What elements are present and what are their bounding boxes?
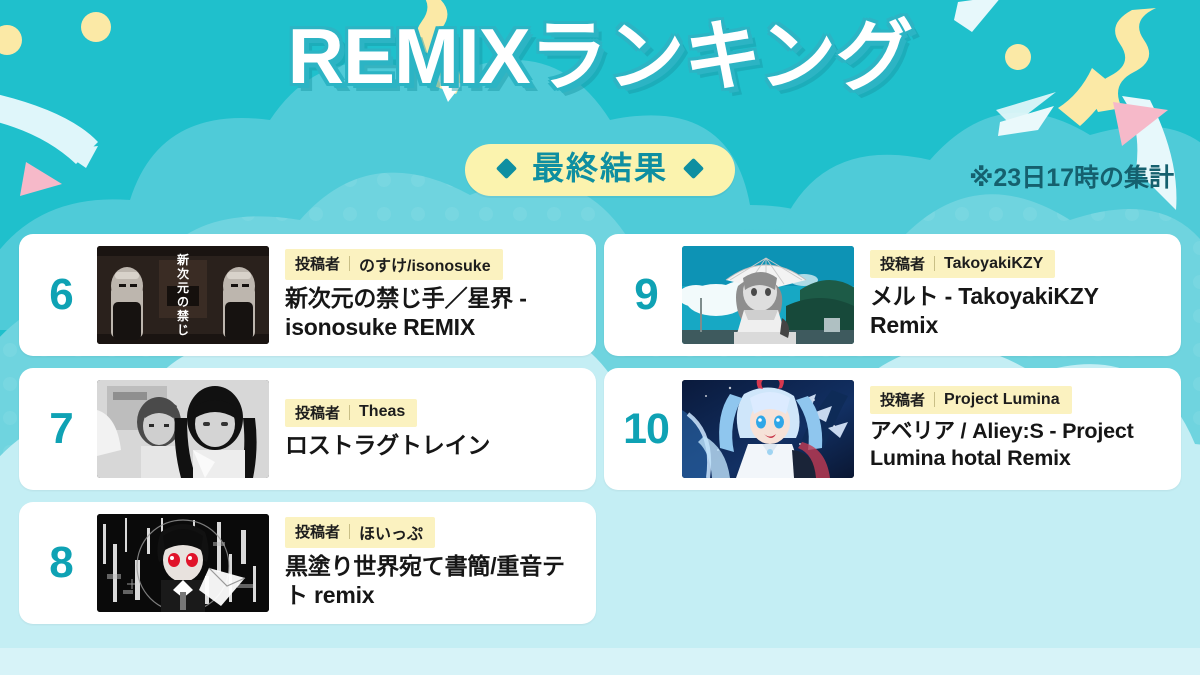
tag-divider xyxy=(349,405,350,420)
poster-label: 投稿者 xyxy=(295,521,340,542)
ranking-card-8[interactable]: 8 xyxy=(19,502,596,624)
rank-number: 6 xyxy=(25,273,97,317)
rank-number: 9 xyxy=(610,273,682,317)
diamond-icon-right xyxy=(683,158,704,179)
tally-note: ※23日17時の集計 xyxy=(969,158,1174,194)
poster-label: 投稿者 xyxy=(880,389,925,410)
poster-tag: 投稿者 TakoyakiKZY xyxy=(870,250,1055,278)
poster-name: Project Lumina xyxy=(944,391,1060,409)
thumbnail-rank-6[interactable]: 新 次 元 の 禁 じ xyxy=(97,246,269,344)
poster-name: のすけ/isonosuke xyxy=(359,252,491,276)
song-title: ロストラグトレイン xyxy=(285,431,582,460)
card-meta: 投稿者 TakoyakiKZY メルト - TakoyakiKZY Remix xyxy=(854,250,1167,340)
song-title: 黒塗り世界宛て書簡/重音テト remix xyxy=(285,552,582,610)
poster-tag: 投稿者 Theas xyxy=(285,399,417,427)
tag-divider xyxy=(349,524,350,539)
rank-number: 8 xyxy=(25,541,97,585)
ranking-card-7[interactable]: 7 xyxy=(19,368,596,490)
svg-text:禁: 禁 xyxy=(177,308,189,323)
thumbnail-rank-8[interactable] xyxy=(97,514,269,612)
poster-label: 投稿者 xyxy=(880,253,925,274)
poster-name: TakoyakiKZY xyxy=(944,255,1043,273)
poster-tag: 投稿者 Project Lumina xyxy=(870,386,1072,414)
song-title: アベリア / Aliey:S - Project Lumina hotal Re… xyxy=(870,418,1167,472)
poster-tag: 投稿者 ほいっぷ xyxy=(285,517,435,548)
card-meta: 投稿者 ほいっぷ 黒塗り世界宛て書簡/重音テト remix xyxy=(269,517,582,610)
svg-text:元: 元 xyxy=(177,281,189,295)
page-title: REMIXランキング xyxy=(288,14,913,98)
card-meta: 投稿者 Project Lumina アベリア / Aliey:S - Proj… xyxy=(854,386,1167,472)
ranking-card-9[interactable]: 9 xyxy=(604,234,1181,356)
svg-text:じ: じ xyxy=(177,323,189,337)
final-result-badge: 最終結果 xyxy=(465,144,735,196)
card-meta: 投稿者 Theas ロストラグトレイン xyxy=(269,399,582,460)
poster-name: Theas xyxy=(359,403,405,421)
card-meta: 投稿者 のすけ/isonosuke 新次元の禁じ手／星界 - isonosuke… xyxy=(269,249,582,342)
svg-text:次: 次 xyxy=(177,266,189,281)
ranking-column-left: 6 xyxy=(19,234,596,624)
thumbnail-rank-10[interactable] xyxy=(682,380,854,478)
svg-text:の: の xyxy=(177,295,189,309)
tag-divider xyxy=(349,256,350,271)
song-title: メルト - TakoyakiKZY Remix xyxy=(870,282,1167,340)
poster-tag: 投稿者 のすけ/isonosuke xyxy=(285,249,503,280)
ranking-board: 6 xyxy=(0,234,1200,624)
final-result-label: 最終結果 xyxy=(532,151,668,186)
svg-text:新: 新 xyxy=(176,252,189,267)
poster-name: ほいっぷ xyxy=(359,520,423,544)
poster-label: 投稿者 xyxy=(295,253,340,274)
diamond-icon-left xyxy=(496,158,517,179)
tag-divider xyxy=(934,392,935,407)
thumbnail-rank-7[interactable] xyxy=(97,380,269,478)
ranking-card-6[interactable]: 6 xyxy=(19,234,596,356)
thumbnail-rank-9[interactable] xyxy=(682,246,854,344)
rank-number: 10 xyxy=(610,408,682,451)
ranking-column-right: 9 xyxy=(604,234,1181,624)
song-title: 新次元の禁じ手／星界 - isonosuke REMIX xyxy=(285,284,582,342)
page-title-wrap: REMIXランキング xyxy=(0,14,1200,98)
ranking-card-10[interactable]: 10 xyxy=(604,368,1181,490)
poster-label: 投稿者 xyxy=(295,402,340,423)
rank-number: 7 xyxy=(25,407,97,451)
tag-divider xyxy=(934,256,935,271)
